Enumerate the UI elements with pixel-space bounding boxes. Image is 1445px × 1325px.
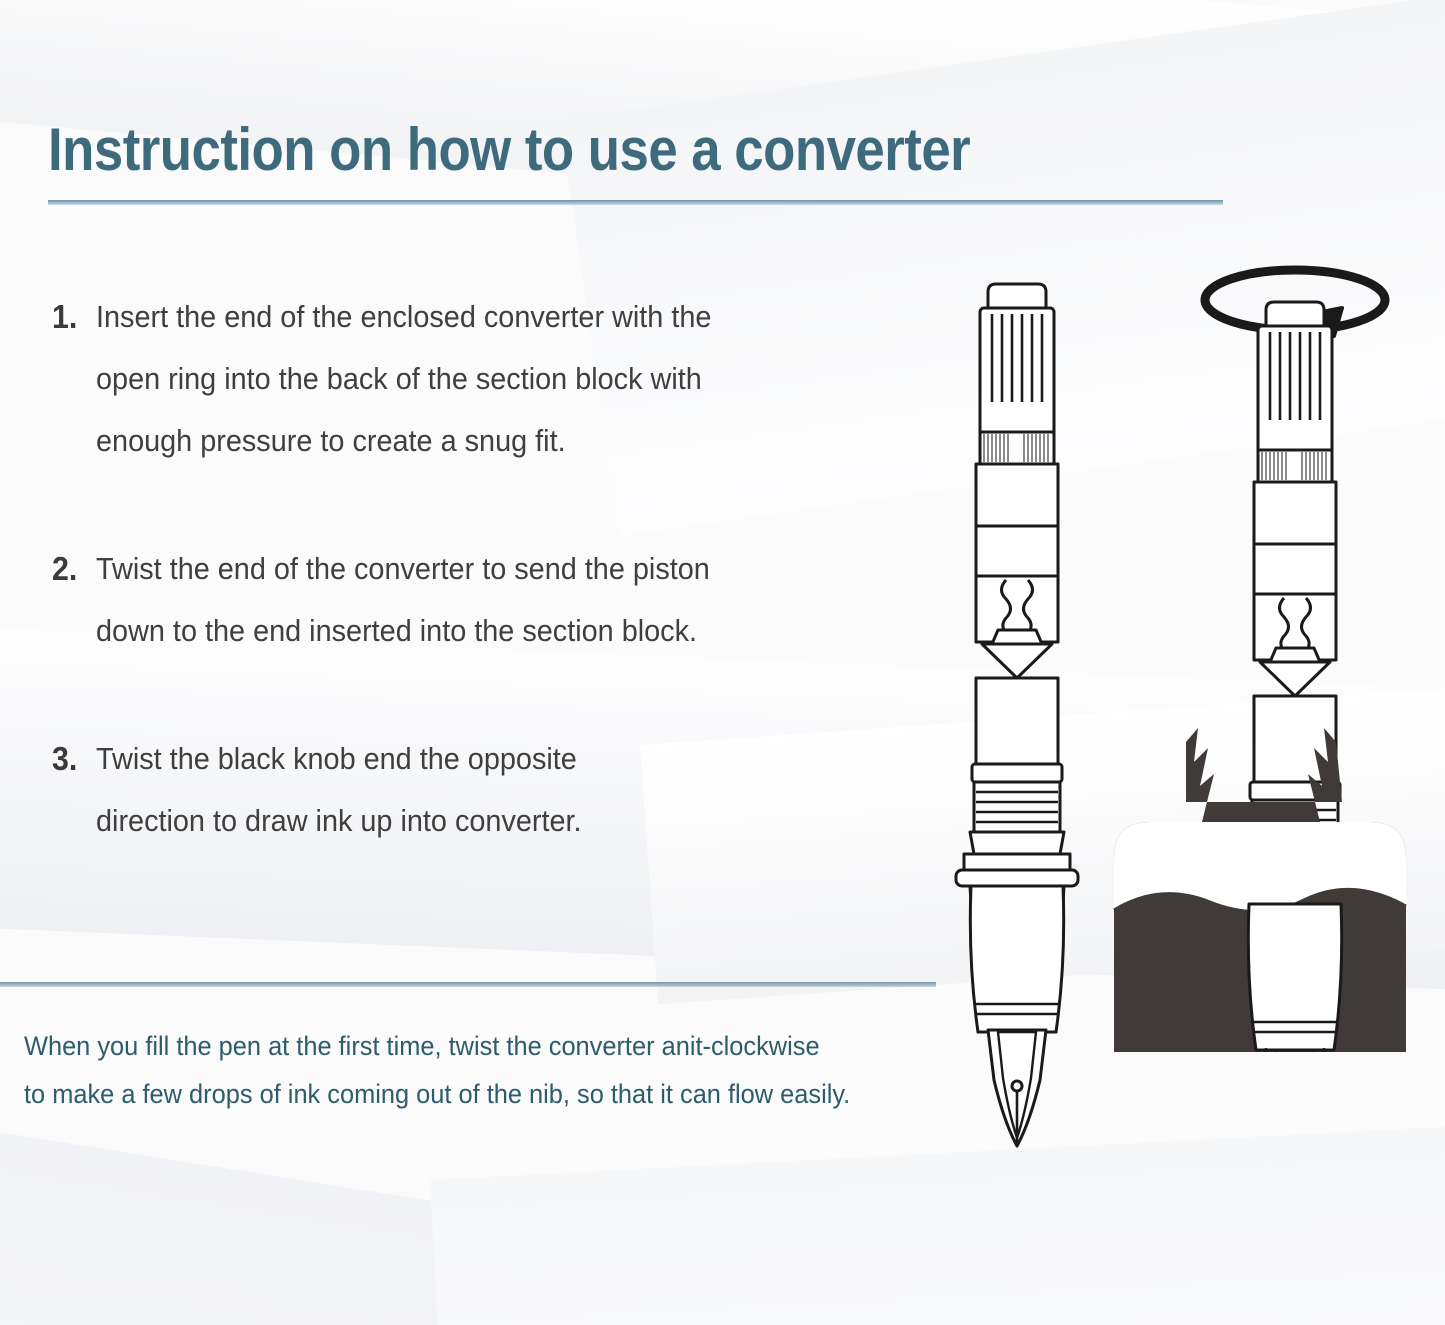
piston-collar xyxy=(1270,648,1320,662)
step-text: Insert the end of the enclosed converter… xyxy=(96,286,711,472)
instruction-step-list: 1. Insert the end of the enclosed conver… xyxy=(52,286,932,918)
figure-pen-assembled xyxy=(930,262,1110,1057)
step-text: Twist the end of the converter to send t… xyxy=(96,538,710,662)
piston-head xyxy=(982,644,1052,678)
grip-section xyxy=(1248,904,1341,1050)
step-number: 3. xyxy=(52,728,92,790)
instruction-step: 2. Twist the end of the converter to sen… xyxy=(52,538,932,662)
converter-body-mid xyxy=(976,526,1058,576)
footer-note: When you fill the pen at the first time,… xyxy=(24,1022,973,1118)
step-number: 1. xyxy=(52,286,92,348)
figure-pen-in-ink xyxy=(1090,262,1430,1057)
page-title-text: Instruction on how to use a converter xyxy=(48,118,1086,181)
converter-body-upper xyxy=(1254,482,1336,544)
converter-body-mid xyxy=(1254,544,1336,594)
piston-collar xyxy=(992,630,1042,644)
threaded-collar-top xyxy=(972,764,1062,782)
knob-cap xyxy=(1266,302,1324,326)
piston-head xyxy=(1260,662,1330,696)
converter-tube-lower xyxy=(976,678,1058,764)
collar-flange-upper xyxy=(964,854,1070,870)
collar-flange xyxy=(956,870,1078,886)
nib-breather-hole xyxy=(1012,1081,1022,1091)
instruction-step: 1. Insert the end of the enclosed conver… xyxy=(52,286,932,472)
converter-body-upper xyxy=(976,464,1058,526)
knob-cap xyxy=(988,284,1046,308)
collar-step xyxy=(970,832,1064,854)
step-number: 2. xyxy=(52,538,92,600)
instruction-page: Instruction on how to use a converter 1.… xyxy=(0,0,1445,1325)
instruction-step: 3. Twist the black knob end the opposite… xyxy=(52,728,932,852)
title-divider xyxy=(48,200,1223,205)
grip-section-shape xyxy=(970,886,1063,1032)
step-text: Twist the black knob end the opposite di… xyxy=(96,728,582,852)
thread-band xyxy=(974,782,1060,832)
footer-divider xyxy=(0,982,936,987)
page-title: Instruction on how to use a converter xyxy=(48,118,1228,181)
